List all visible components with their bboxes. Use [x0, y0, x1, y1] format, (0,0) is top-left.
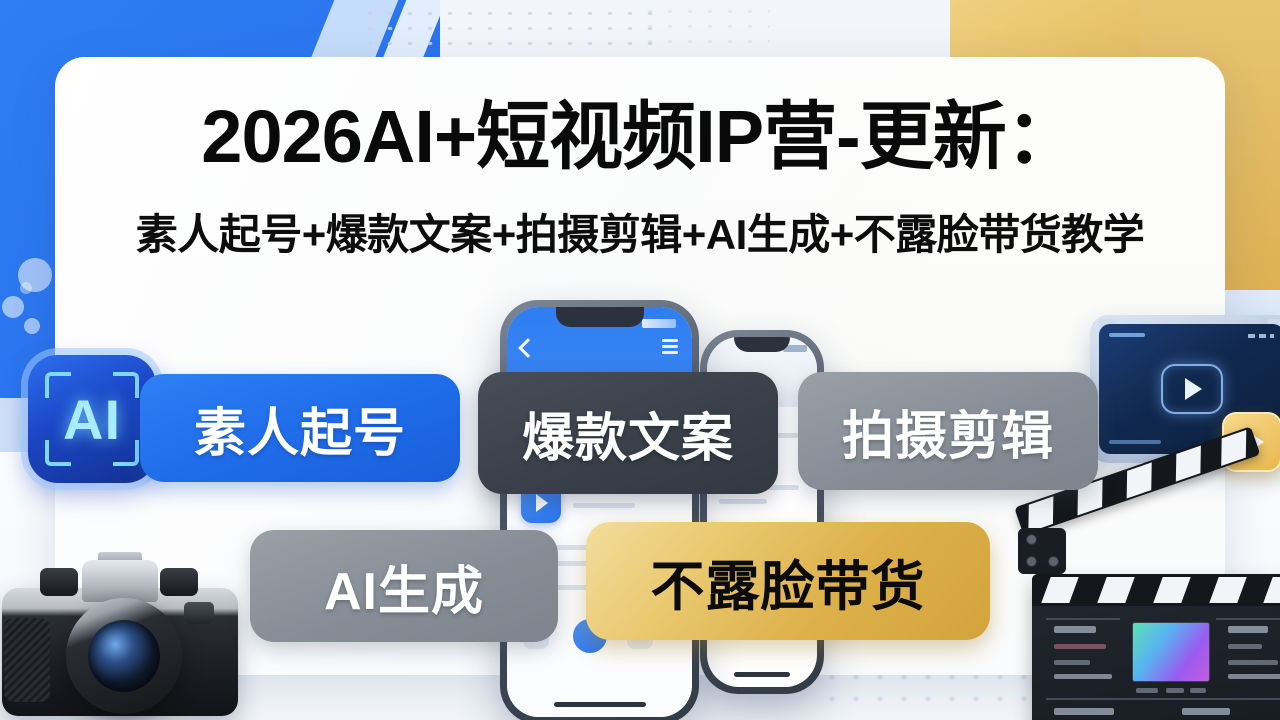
- phone-home-indicator: [554, 702, 646, 707]
- phone-home-indicator: [734, 672, 790, 677]
- scan-bracket-icon: [113, 440, 139, 466]
- tablet-status-dots: [1248, 334, 1274, 338]
- camera-lens: [66, 598, 182, 714]
- bokeh-circle: [20, 282, 32, 294]
- phone-content-line: [573, 503, 635, 508]
- tag-pill-bao-kuan-wen-an[interactable]: 爆款文案: [478, 372, 778, 494]
- clapper-board: [1032, 574, 1280, 720]
- phone-notch: [556, 307, 644, 327]
- clapper-preview-screen: [1132, 622, 1210, 682]
- scan-bracket-icon: [113, 372, 139, 398]
- clapperboard-icon: [1010, 500, 1280, 720]
- tag-pill-ai-sheng-cheng[interactable]: AI生成: [250, 530, 558, 642]
- dot-grid-pattern-top: [360, 6, 660, 50]
- dslr-camera-icon: [0, 540, 254, 720]
- play-icon[interactable]: [1161, 364, 1223, 414]
- tag-pill-pai-she-jian-ji[interactable]: 拍摄剪辑: [798, 372, 1098, 490]
- tag-pill-su-ren-qi-hao[interactable]: 素人起号: [140, 374, 460, 482]
- camera-grip: [4, 618, 50, 702]
- clapper-hinge: [1018, 528, 1066, 574]
- phone-status-bar: [642, 319, 676, 328]
- scan-bracket-icon: [45, 372, 71, 398]
- promo-poster: 2026AI+短视频IP营-更新： 素人起号+爆款文案+拍摄剪辑+AI生成+不露…: [0, 0, 1280, 720]
- clapper-stripe-row: [1032, 574, 1280, 606]
- phone-mockup-front-icon: [500, 300, 699, 720]
- phone-notch: [734, 337, 790, 352]
- phone-front-screen: [507, 307, 692, 717]
- menu-icon[interactable]: [662, 339, 678, 358]
- tablet-progress-bar: [1109, 333, 1145, 337]
- tablet-meta-line: [1109, 440, 1161, 444]
- dot-grid-pattern-top-2: [640, 4, 770, 48]
- ai-scan-badge-icon: AI: [28, 355, 156, 483]
- bokeh-circle: [24, 318, 40, 334]
- tag-pill-bu-lu-lian-dai-huo[interactable]: 不露脸带货: [586, 522, 990, 640]
- page-title: 2026AI+短视频IP营-更新：: [0, 100, 1280, 174]
- camera-flash: [184, 602, 214, 624]
- scan-bracket-icon: [45, 440, 71, 466]
- back-chevron-icon[interactable]: [518, 338, 538, 358]
- camera-dial-right: [160, 568, 198, 596]
- phone-content-line: [719, 499, 767, 504]
- page-subtitle: 素人起号+爆款文案+拍摄剪辑+AI生成+不露脸带货教学: [0, 214, 1280, 256]
- bokeh-circle: [2, 296, 24, 318]
- camera-prism: [82, 560, 158, 602]
- camera-dial-left: [40, 568, 78, 596]
